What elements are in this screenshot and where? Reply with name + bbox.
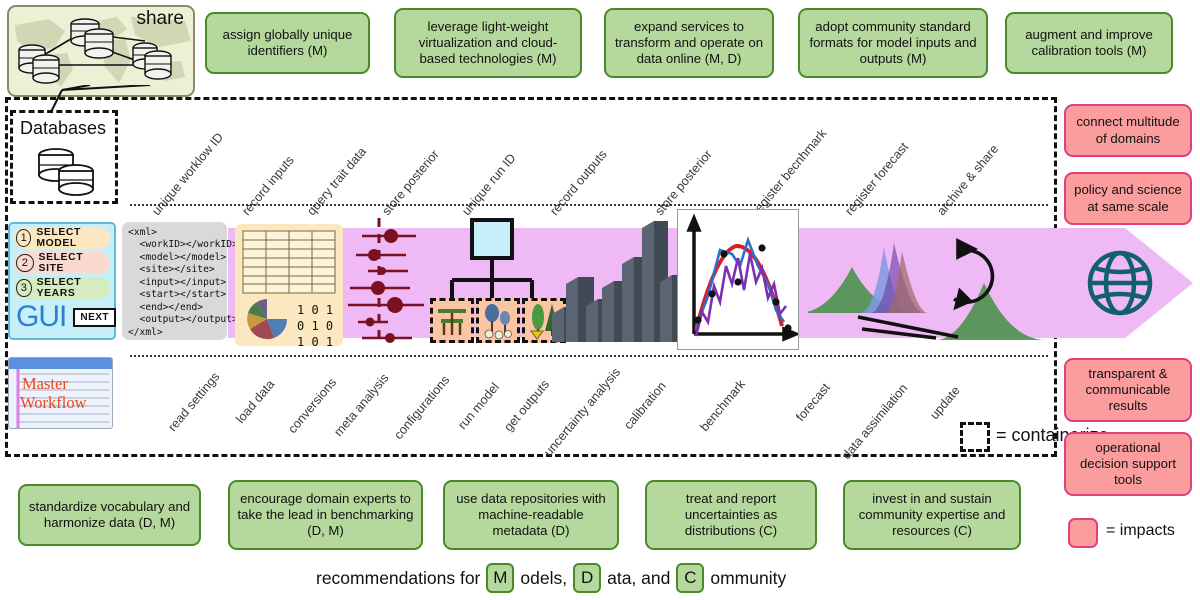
stage-label-8: calibration (621, 379, 669, 432)
impact-box-1[interactable]: policy and science at same scale (1064, 172, 1192, 225)
globe-icon (1085, 248, 1155, 318)
impacts-legend-label: = impacts (1106, 522, 1175, 540)
bottom-recommendation-3[interactable]: treat and report uncertainties as distri… (645, 480, 817, 550)
stage-labels: read settings load data conversions meta… (0, 0, 1060, 460)
bottom-recommendation-2[interactable]: use data repositories with machine-reada… (443, 480, 619, 550)
legend-chip-models: M (486, 563, 514, 593)
bottom-recommendation-0[interactable]: standardize vocabulary and harmonize dat… (18, 484, 201, 546)
stage-label-5: run model (455, 380, 502, 432)
stage-label-10: forecast (793, 381, 833, 424)
stage-label-1: load data (233, 377, 277, 426)
stage-label-0: read settings (165, 370, 222, 434)
legend-sentence: recommendations for M odels, D ata, and … (316, 563, 786, 593)
impact-box-3[interactable]: operational decision support tools (1064, 432, 1192, 496)
bottom-recommendation-4[interactable]: invest in and sustain community expertis… (843, 480, 1021, 550)
stage-label-3: meta analysis (331, 371, 391, 439)
stage-label-6: get outputs (501, 377, 552, 434)
stage-label-11: data assimilation (839, 381, 910, 462)
legend-chip-data: D (573, 563, 601, 593)
impact-box-2[interactable]: transparent & communicable results (1064, 358, 1192, 422)
stage-label-2: conversions (285, 376, 339, 436)
stage-label-12: update (927, 383, 962, 422)
legend-chip-community: C (676, 563, 704, 593)
impacts-swatch (1068, 518, 1098, 548)
containerize-swatch (960, 422, 990, 452)
stage-label-4: configurations (391, 373, 452, 442)
legend-community-rest: ommunity (710, 568, 786, 589)
stage-label-7: uncertainty analysis (541, 365, 623, 459)
legend-data-rest: ata, and (607, 568, 670, 589)
stage-label-9: benchmark (697, 377, 748, 434)
impact-box-0[interactable]: connect multitude of domains (1064, 104, 1192, 157)
bottom-recommendation-1[interactable]: encourage domain experts to take the lea… (228, 480, 423, 550)
legend-models-rest: odels, (520, 568, 567, 589)
legend-prefix: recommendations for (316, 568, 480, 589)
